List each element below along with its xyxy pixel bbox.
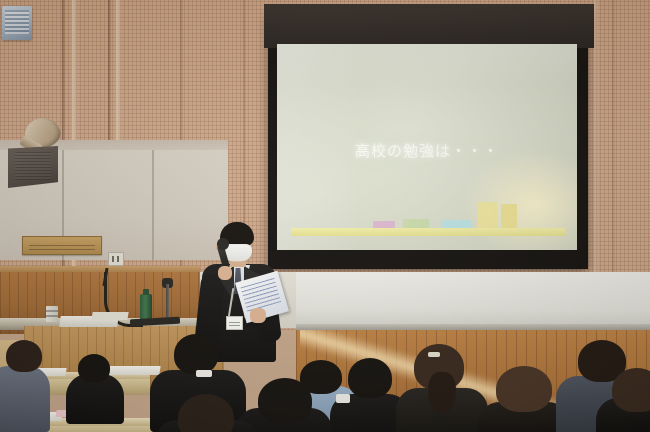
bay-seam	[152, 150, 154, 260]
whiteboard	[296, 272, 650, 329]
audience-head	[612, 368, 650, 412]
podium-papers	[91, 312, 128, 320]
wall-outlet	[108, 252, 124, 266]
screen-surface: 高校の勉強は・・・	[277, 44, 577, 250]
projection-screen: 高校の勉強は・・・	[268, 14, 588, 269]
slide-shelf-bar	[291, 228, 565, 236]
desk-paper	[107, 366, 160, 375]
presenter-hand-left	[218, 266, 232, 280]
lecture-hall-photo: 高校の勉強は・・・	[0, 0, 650, 432]
audience-collar	[196, 370, 212, 377]
audience-head	[496, 366, 552, 412]
pink-block	[373, 221, 395, 228]
screen-valance	[264, 4, 594, 48]
audience-person	[0, 366, 50, 432]
slide-title-text: 高校の勉強は・・・	[277, 140, 577, 161]
audience-head	[258, 378, 312, 424]
green-block	[403, 219, 429, 228]
audience-head	[6, 340, 42, 372]
corner-fixture	[2, 6, 32, 40]
audience-head	[348, 358, 392, 398]
audience-collar	[336, 394, 350, 403]
wall-plaque	[22, 236, 102, 255]
audience-head	[78, 354, 110, 382]
horn-speaker-icon	[8, 118, 66, 190]
id-badge	[226, 316, 243, 330]
audience-head	[174, 334, 218, 374]
hair-clip	[428, 352, 440, 357]
microphone-head	[217, 238, 229, 250]
cyan-block	[441, 220, 471, 228]
ponytail	[428, 372, 456, 414]
tall-cream-block-2	[501, 204, 517, 228]
cup	[46, 306, 58, 322]
tall-cream-block-1	[477, 202, 497, 228]
presenter-hand-right	[250, 308, 266, 323]
audience-area	[0, 332, 650, 432]
